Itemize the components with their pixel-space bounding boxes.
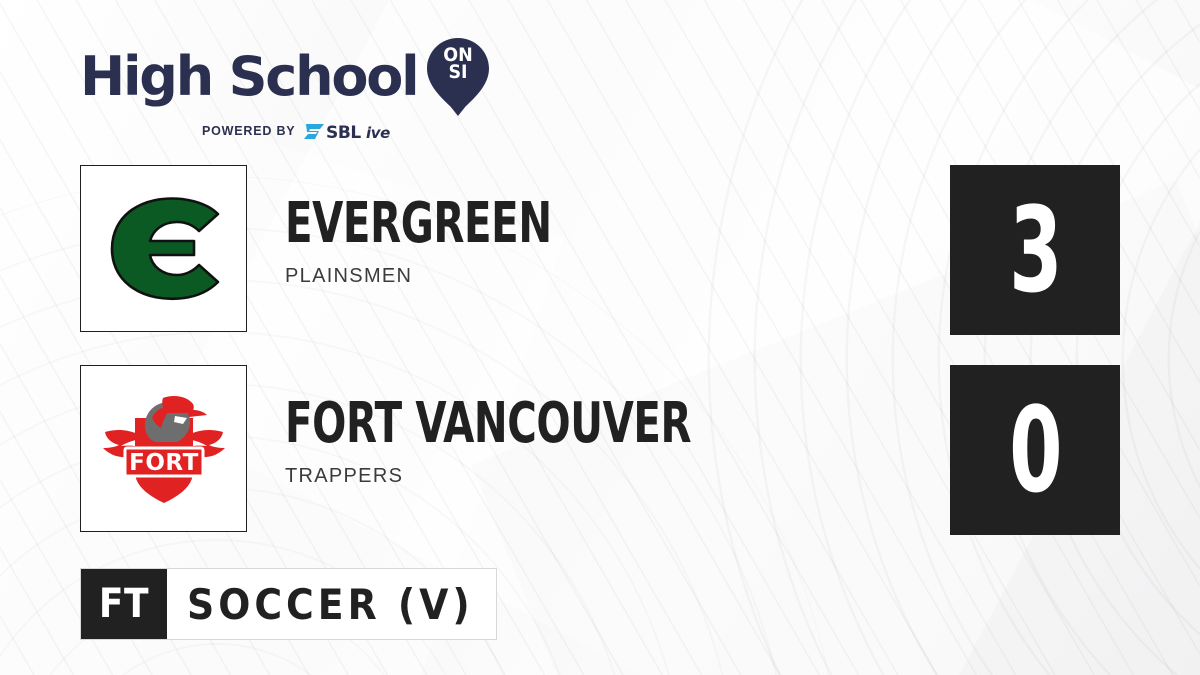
team-mascot-home: PLAINSMEN [285,265,985,288]
pin-line-si: SI [430,64,487,81]
evergreen-plainsmen-logo [80,165,247,332]
sport-label: SOCCER (V) [167,569,496,639]
fort-vancouver-trappers-logo: FORT [80,365,247,532]
team-text-home: EVERGREEN PLAINSMEN [285,195,985,288]
score-box-away: 0 [950,365,1120,535]
team-text-away: FORT VANCOUVER TRAPPERS [285,395,985,488]
scoreboard-graphic: High School ON SI POWERED BY SBL ive [0,0,1200,675]
score-value-away: 0 [1009,391,1061,509]
team-name-away: FORT VANCOUVER [285,395,845,453]
brand-wordmark: High School [80,50,417,104]
pin-text: ON SI [430,47,487,81]
svg-text:SBL: SBL [326,123,361,142]
brand-logo-row: High School ON SI [80,38,510,116]
score-value-home: 3 [1009,191,1061,309]
sblive-logo-icon: SBL ive [304,120,402,142]
team-mascot-away: TRAPPERS [285,465,985,488]
team-name-home: EVERGREEN [285,195,845,253]
brand-logo[interactable]: High School ON SI POWERED BY SBL ive [80,38,510,142]
game-status-bar: FT SOCCER (V) [80,568,497,640]
svg-text:FORT: FORT [129,450,199,476]
team-row-away: FORT FORT VANCOUVER TRAPPERS 0 [80,365,1120,535]
on-si-pin-icon: ON SI [427,38,489,116]
team-row-home: EVERGREEN PLAINSMEN 3 [80,165,1120,335]
powered-by-row: POWERED BY SBL ive [80,120,510,142]
svg-text:ive: ive [366,124,390,142]
status-badge: FT [81,569,167,639]
powered-by-label: POWERED BY [202,124,295,138]
score-box-home: 3 [950,165,1120,335]
